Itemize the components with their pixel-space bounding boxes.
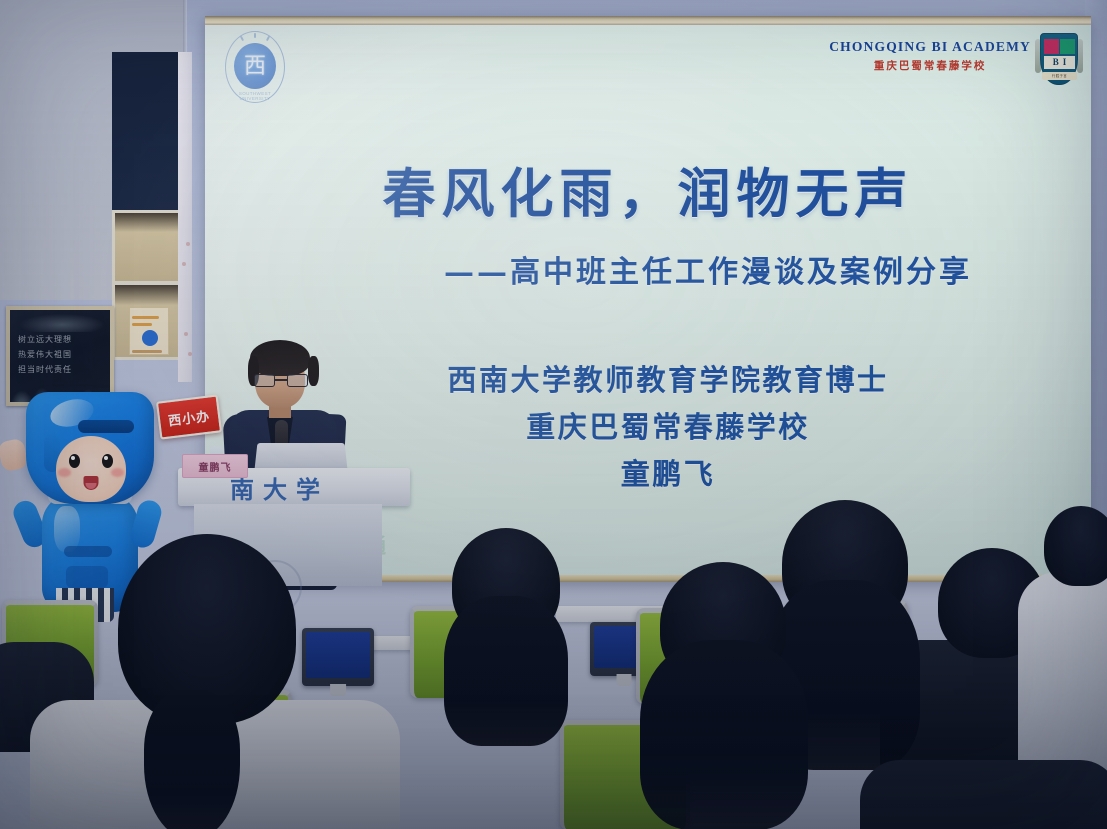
mascot-face [56, 436, 126, 502]
mascot-arm-right [128, 498, 164, 551]
chalkboard: 树立远大理想 热爱伟大祖国 担当时代责任 [6, 306, 114, 406]
shelf-compartment-1 [112, 210, 182, 284]
presenter-line-2: 重庆巴蜀常春藤学校 [245, 404, 1091, 451]
slide-title: 春风化雨，润物无声 [205, 165, 1091, 224]
presenter-line-1: 西南大学教师教育学院教育博士 [245, 357, 1091, 404]
mascot-base [56, 588, 114, 622]
shelf-dot [184, 332, 188, 336]
shelf-dark-panel [112, 52, 182, 212]
chalkboard-line-1: 树立远大理想 [18, 334, 72, 345]
swu-arc-text: SOUTHWEST UNIVERSITY [225, 91, 285, 101]
swu-glyph: 西 [244, 56, 266, 78]
shelf-compartment-2 [112, 282, 182, 360]
red-sign-label: 西小办 [167, 405, 211, 429]
academy-chinese-name: 重庆巴蜀常春藤学校 [829, 58, 1031, 73]
shelf-dot [186, 242, 190, 246]
academy-english-name: CHONGQING BI ACADEMY [829, 39, 1031, 55]
bi-academy-crest-icon: B I 行胜于言 [1037, 31, 1081, 93]
bi-academy-branding: CHONGQING BI ACADEMY 重庆巴蜀常春藤学校 B I 行胜于言 [829, 31, 1081, 93]
laptop[interactable] [255, 443, 348, 470]
speaker-nameplate-label: 童鹏飞 [199, 459, 232, 474]
crest-motto: 行胜于言 [1042, 72, 1077, 80]
lecture-hall-scene: 树立远大理想 热爱伟大祖国 担当时代责任 西 SOUTHWEST UNIVERS… [0, 0, 1107, 829]
chalkboard-line-2: 热爱伟大祖国 [18, 349, 72, 360]
mascot-hand-raised [0, 438, 29, 473]
southwest-university-logo-icon: 西 SOUTHWEST UNIVERSITY [225, 31, 285, 103]
crest-letter-b: B [1053, 58, 1059, 67]
red-department-sign: 西小办 [156, 394, 222, 439]
crest-letter-i: I [1063, 58, 1067, 67]
shelf-poster [129, 307, 169, 355]
speaker-nameplate: 童鹏飞 [182, 454, 248, 478]
lectern-body [194, 504, 382, 586]
slide-subtitle: ——高中班主任工作漫谈及案例分享 [205, 247, 1091, 291]
mascot-robot [12, 392, 162, 622]
shelf-dot [188, 352, 192, 356]
lectern-emblem [248, 560, 302, 614]
screen-top-frame [205, 16, 1091, 25]
lectern: 南大学 童鹏飞 [178, 468, 410, 586]
shelf-dot [182, 262, 186, 266]
presenter-glasses-icon [254, 374, 308, 387]
chalk-drawing-cloud [20, 314, 104, 332]
